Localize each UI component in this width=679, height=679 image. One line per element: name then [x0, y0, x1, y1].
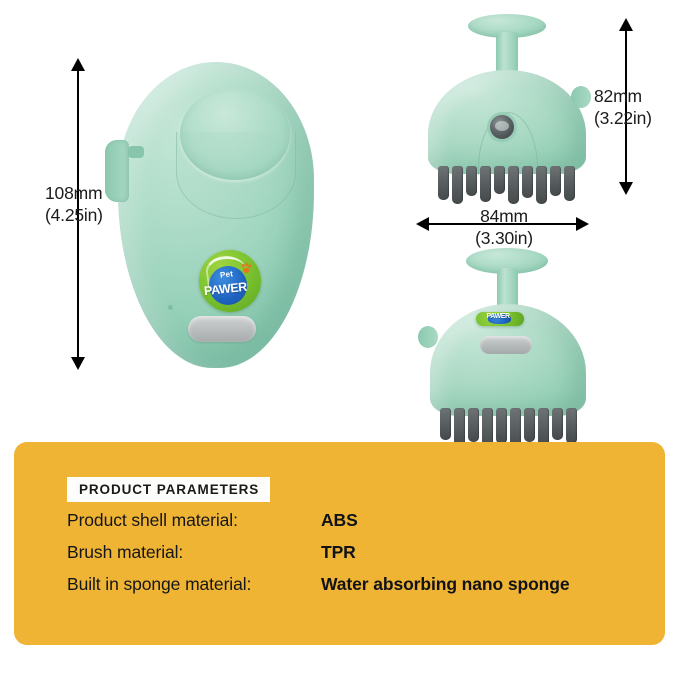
- bristle: [564, 166, 575, 201]
- housing-window-panel: [188, 316, 256, 342]
- housing-collar-seam: [176, 132, 296, 219]
- parameter-label: Brush material:: [67, 542, 321, 563]
- brush-side-nub: [418, 326, 438, 348]
- parameter-value: TPR: [321, 542, 356, 563]
- bristle: [522, 166, 533, 198]
- parameter-row: Built in sponge material: Water absorbin…: [67, 574, 627, 606]
- bristle: [468, 408, 479, 442]
- bristle: [494, 166, 505, 194]
- brush-height-dimension-arrow-top: [619, 18, 633, 31]
- brush-width-dimension-label: 84mm (3.30in): [462, 205, 546, 249]
- brush-width-dimension-inches: (3.30in): [462, 227, 546, 249]
- parameter-row: Product shell material: ABS: [67, 510, 627, 542]
- product-view-angled-brush: PAWER: [418, 248, 598, 428]
- logo-text-pawer: PAWER: [487, 313, 510, 320]
- housing-side-tab: [105, 140, 129, 202]
- product-spec-sheet: Pet PAWER 108mm (4.25in): [0, 0, 679, 679]
- parameter-row: Brush material: TPR: [67, 542, 627, 574]
- product-view-front-brush: [418, 14, 596, 200]
- bristle: [440, 408, 451, 440]
- brush-height-dimension-label: 82mm (3.22in): [594, 85, 652, 129]
- brush-width-dimension-arrow-left: [416, 217, 429, 231]
- brush-side-nub: [571, 86, 591, 108]
- parameter-value: ABS: [321, 510, 358, 531]
- parameter-label: Built in sponge material:: [67, 574, 321, 595]
- paw-print-icon: [240, 262, 253, 275]
- brush-height-dimension-arrow-bottom: [619, 182, 633, 195]
- bristle: [438, 166, 449, 200]
- product-parameters-rows: Product shell material: ABS Brush materi…: [67, 510, 627, 606]
- housing-tab-notch: [128, 146, 144, 158]
- height-dimension-arrow-bottom: [71, 357, 85, 370]
- height-dimension-mm: 108mm: [45, 182, 103, 204]
- pet-power-logo: Pet PAWER: [199, 250, 261, 312]
- brush-width-dimension-arrow-right: [576, 217, 589, 231]
- bristle: [536, 166, 547, 204]
- bristle: [524, 408, 535, 442]
- product-parameters-panel: PRODUCT PARAMETERS Product shell materia…: [14, 442, 665, 645]
- pet-power-logo: PAWER: [476, 312, 524, 326]
- bristle: [496, 408, 507, 444]
- parameter-label: Product shell material:: [67, 510, 321, 531]
- bristle: [550, 166, 561, 196]
- bristle: [466, 166, 477, 196]
- product-parameters-title: PRODUCT PARAMETERS: [67, 477, 270, 502]
- brush-power-button[interactable]: [490, 115, 514, 139]
- brush-bristle-row: [438, 166, 578, 204]
- bristle: [566, 408, 577, 444]
- brush-height-dimension-mm: 82mm: [594, 85, 652, 107]
- bristle: [508, 166, 519, 204]
- brush-width-dimension-mm: 84mm: [462, 205, 546, 227]
- parameter-value: Water absorbing nano sponge: [321, 574, 569, 595]
- product-view-top-housing: Pet PAWER: [118, 62, 314, 368]
- indicator-led: [168, 305, 173, 310]
- bristle: [552, 408, 563, 440]
- bristle: [452, 166, 463, 204]
- brush-window-panel: [480, 336, 532, 354]
- height-dimension-label: 108mm (4.25in): [45, 182, 103, 226]
- brush-height-dimension-inches: (3.22in): [594, 107, 652, 129]
- height-dimension-inches: (4.25in): [45, 204, 103, 226]
- bristle: [480, 166, 491, 202]
- height-dimension-arrow-top: [71, 58, 85, 71]
